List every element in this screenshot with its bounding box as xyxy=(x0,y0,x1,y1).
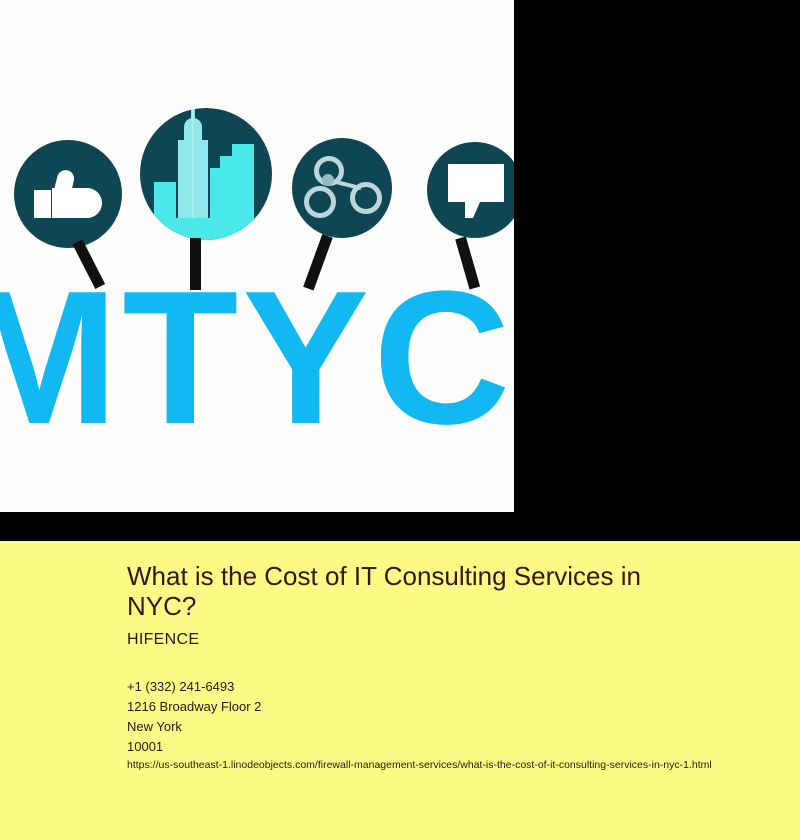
skyline-tower-antenna xyxy=(192,108,194,218)
network-node-right xyxy=(350,182,382,214)
thumbs-up-base-shape xyxy=(34,190,51,218)
thumbs-up-icon xyxy=(14,140,122,248)
network-hub-dot xyxy=(322,174,334,186)
content-card: What is the Cost of IT Consulting Servic… xyxy=(0,541,800,840)
chat-bubble-icon xyxy=(427,142,514,238)
contact-city: New York xyxy=(127,717,261,737)
hero-wordmark: MTYC xyxy=(0,258,514,458)
skyline-ground xyxy=(150,218,262,240)
chat-bubble-tail xyxy=(465,202,480,218)
network-nodes-icon xyxy=(292,138,392,238)
skyline-building-left xyxy=(154,182,176,218)
network-nodes-glyph xyxy=(292,138,392,238)
contact-street: 1216 Broadway Floor 2 xyxy=(127,697,261,717)
chat-bubble-body xyxy=(448,164,504,202)
network-node-left xyxy=(304,186,336,218)
thumbs-up-glyph xyxy=(14,140,122,248)
page-title: What is the Cost of IT Consulting Servic… xyxy=(127,561,667,621)
chat-bubble-glyph xyxy=(427,142,514,238)
brand-name: HIFENCE xyxy=(127,631,199,649)
hero-infographic-image: MTYC xyxy=(0,0,514,512)
contact-postal-code: 10001 xyxy=(127,737,261,757)
contact-block: +1 (332) 241-6493 1216 Broadway Floor 2 … xyxy=(127,677,261,757)
source-url[interactable]: https://us-southeast-1.linodeobjects.com… xyxy=(127,759,712,771)
city-skyline-icon xyxy=(140,108,272,240)
contact-phone: +1 (332) 241-6493 xyxy=(127,677,261,697)
skyline-building-right-3 xyxy=(232,144,254,218)
city-skyline-glyph xyxy=(140,108,272,240)
media-band: MTYC xyxy=(0,0,800,541)
